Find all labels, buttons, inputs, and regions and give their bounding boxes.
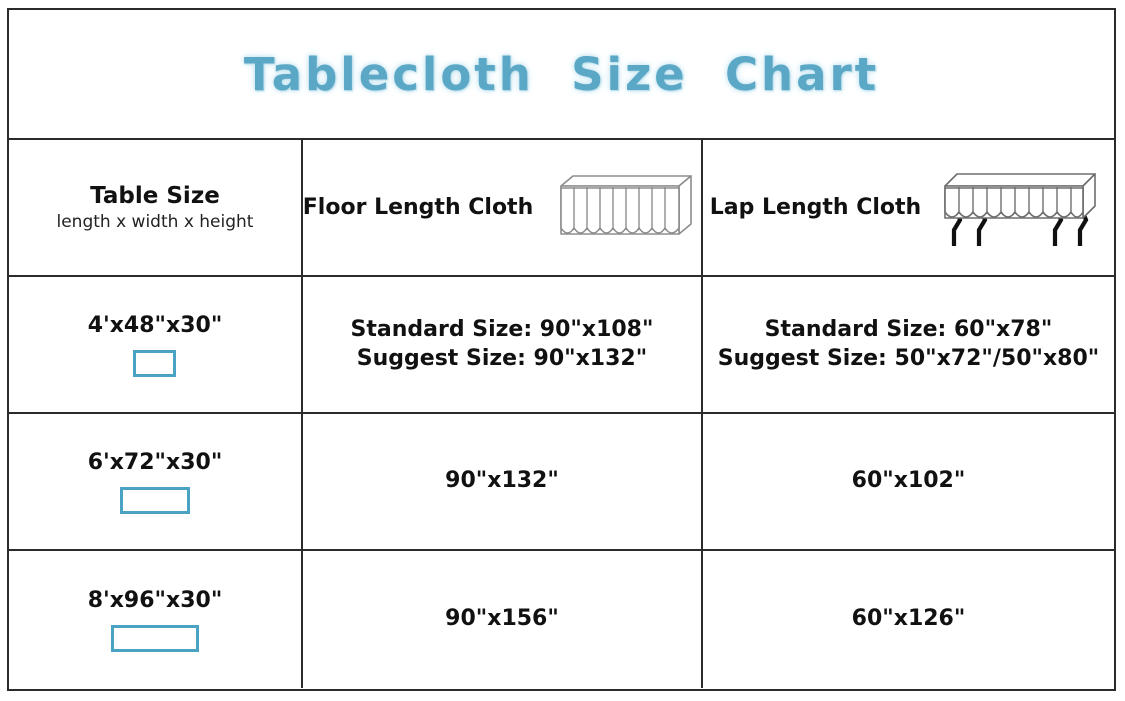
- cell-table-size: 8'x96"x30": [9, 551, 301, 688]
- floor-length-size: 90"x156": [445, 605, 559, 634]
- cell-lap-length: 60"x102": [701, 414, 1114, 549]
- page-title: Tablecloth Size Chart: [244, 48, 879, 101]
- floor-length-cloth-icon: [539, 168, 701, 248]
- header-cell-table-size: Table Size length x width x height: [9, 140, 301, 275]
- cell-floor-length: 90"x156": [301, 551, 701, 688]
- table-header-row: Table Size length x width x height Floor…: [9, 140, 1114, 277]
- table-shape-glyph: [111, 625, 199, 652]
- table-size-value: 6'x72"x30": [88, 449, 223, 478]
- lap-length-size: 60"x102": [852, 467, 966, 496]
- table-row: 4'x48"x30" Standard Size: 90"x108" Sugge…: [9, 277, 1114, 414]
- cell-floor-length: Standard Size: 90"x108" Suggest Size: 90…: [301, 277, 701, 412]
- tablecloth-size-chart: Tablecloth Size Chart Table Size length …: [7, 8, 1116, 691]
- lap-length-standard-size: Standard Size: 60"x78": [718, 316, 1100, 345]
- table-row: 6'x72"x30" 90"x132" 60"x102": [9, 414, 1114, 551]
- floor-length-size: 90"x132": [445, 467, 559, 496]
- header-floor-length-label: Floor Length Cloth: [303, 195, 533, 220]
- cell-table-size: 6'x72"x30": [9, 414, 301, 549]
- lap-length-cloth-icon: [927, 164, 1107, 252]
- header-lap-length-label: Lap Length Cloth: [710, 195, 921, 220]
- lap-length-suggest-size: Suggest Size: 50"x72"/50"x80": [718, 345, 1100, 374]
- floor-length-standard-size: Standard Size: 90"x108": [351, 316, 654, 345]
- title-row: Tablecloth Size Chart: [9, 10, 1114, 140]
- header-table-size-label: Table Size: [57, 182, 254, 211]
- cell-floor-length: 90"x132": [301, 414, 701, 549]
- header-cell-lap-length: Lap Length Cloth: [701, 140, 1114, 275]
- table-size-value: 4'x48"x30": [88, 312, 223, 341]
- header-table-size-sublabel: length x width x height: [57, 212, 254, 233]
- cell-lap-length: 60"x126": [701, 551, 1114, 688]
- floor-length-suggest-size: Suggest Size: 90"x132": [351, 345, 654, 374]
- table-row: 8'x96"x30" 90"x156" 60"x126": [9, 551, 1114, 688]
- table-shape-glyph: [133, 350, 176, 377]
- header-cell-floor-length: Floor Length Cloth: [301, 140, 701, 275]
- table-shape-glyph: [120, 487, 190, 514]
- cell-table-size: 4'x48"x30": [9, 277, 301, 412]
- lap-length-size: 60"x126": [852, 605, 966, 634]
- cell-lap-length: Standard Size: 60"x78" Suggest Size: 50"…: [701, 277, 1114, 412]
- table-size-value: 8'x96"x30": [88, 587, 223, 616]
